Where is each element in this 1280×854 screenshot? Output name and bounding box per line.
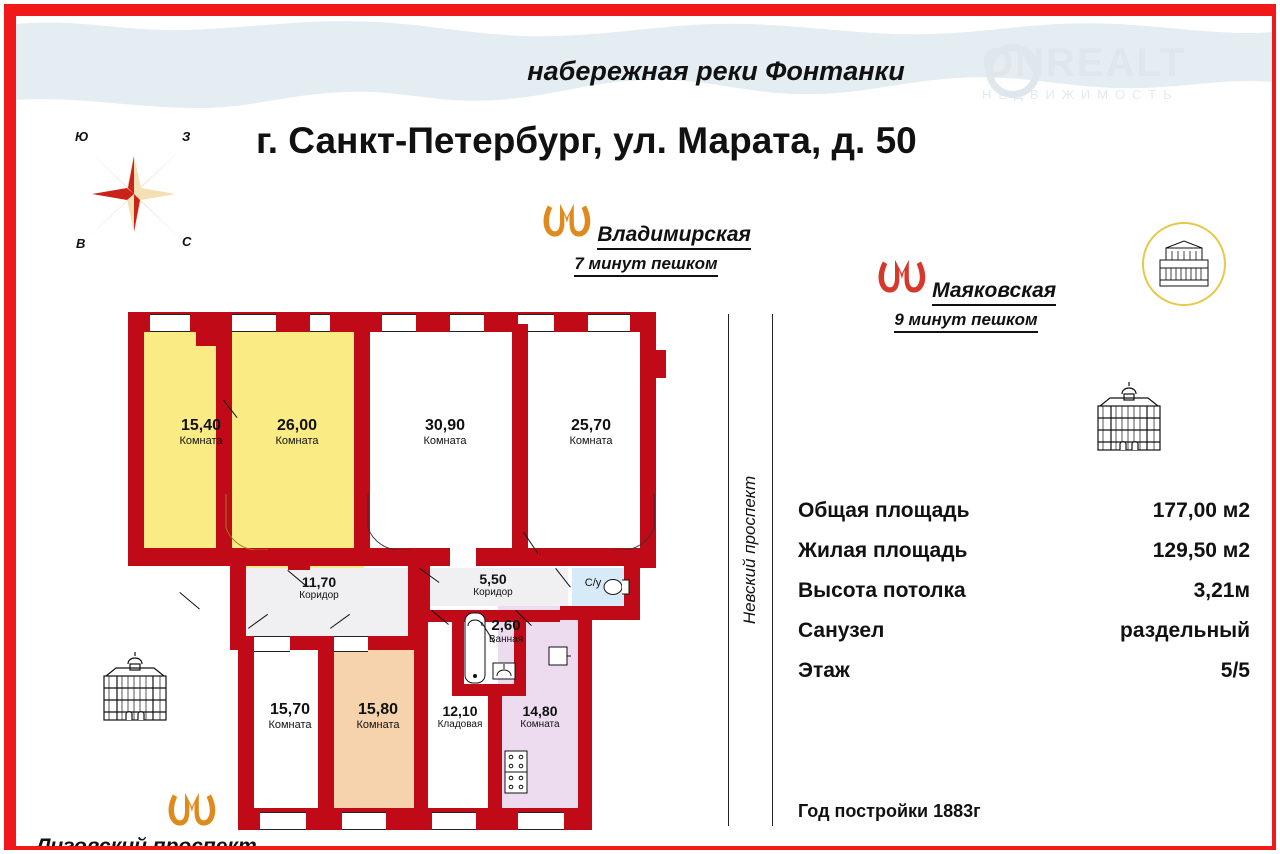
metro-vladimirskaya: Владимирская 7 минут пешком: [486, 202, 806, 277]
window-bottom: [432, 812, 476, 830]
compass-label-s: С: [182, 234, 191, 249]
room-area: 30,90: [402, 418, 488, 435]
room-label-5-50: 5,50 Коридор: [450, 572, 536, 598]
watermark-text: ONREALT: [982, 40, 1262, 86]
metro-walk-time: 9 минут пешком: [894, 310, 1037, 333]
room-label-15-80: 15,80 Комната: [336, 702, 420, 731]
info-key: Высота потолка: [798, 579, 966, 603]
metro-name: Маяковская: [932, 279, 1056, 306]
metro-walk-time: 7 минут пешком: [574, 254, 717, 277]
metro-mayakovskaya: Маяковская 9 минут пешком: [806, 258, 1126, 333]
info-row-bathroom: Санузел раздельный: [798, 619, 1250, 659]
wall-left-exterior: [128, 312, 144, 566]
door-corridor-2: [328, 636, 368, 652]
metro-logo-icon: [541, 202, 593, 240]
page-canvas: ONREALT НЕДВИЖИМОСТЬ набережная реки Фон…: [16, 16, 1272, 846]
river-label: набережная реки Фонтанки: [436, 56, 996, 87]
info-key: Санузел: [798, 619, 884, 643]
red-page-border: ONREALT НЕДВИЖИМОСТЬ набережная реки Фон…: [0, 0, 1280, 854]
door-swing-icon: [224, 494, 270, 550]
compass-label-z: З: [182, 129, 190, 144]
window-bottom: [260, 812, 306, 830]
room-label-12-10: 12,10 Кладовая: [420, 704, 500, 730]
compass-label-v: В: [76, 236, 85, 251]
street-name-label: Невский проспект: [740, 430, 760, 670]
room-label-wc: С/у: [576, 578, 610, 590]
wall-notch-26-00: [330, 312, 358, 332]
wall-lower-left-exterior: [238, 636, 254, 830]
window-bottom: [342, 812, 386, 830]
room-name: Комната: [402, 436, 488, 448]
window-bottom: [518, 812, 564, 830]
info-value: раздельный: [1120, 619, 1250, 643]
window-top: [588, 314, 630, 332]
room-name: Комната: [548, 436, 634, 448]
room-name: Комната: [254, 436, 340, 448]
street-nevsky-prospekt: Невский проспект: [728, 314, 774, 826]
wall-mid-horizontal-right: [476, 548, 656, 566]
room-area: 15,80: [336, 702, 420, 719]
property-info-table: Общая площадь 177,00 м2 Жилая площадь 12…: [798, 499, 1250, 699]
room-label-11-70: 11,70 Коридор: [276, 575, 362, 601]
room-name: Комната: [500, 720, 580, 731]
wall-wc-bottom: [560, 606, 640, 620]
room-fill-15-70: [252, 648, 328, 830]
info-row-floor: Этаж 5/5: [798, 659, 1250, 699]
fixture-box-icon: [548, 646, 572, 666]
watermark-subtext: НЕДВИЖИМОСТЬ: [982, 86, 1262, 104]
info-row-total-area: Общая площадь 177,00 м2: [798, 499, 1250, 539]
room-name: Коридор: [450, 588, 536, 599]
wall-14-80-right: [578, 606, 592, 830]
wall-bath-bottom: [452, 684, 526, 696]
watermark: ONREALT НЕДВИЖИМОСТЬ: [982, 40, 1262, 122]
door-lead-line: [179, 592, 200, 609]
metro-logo-icon: [876, 258, 928, 296]
page-title-address: г. Санкт-Петербург, ул. Марата, д. 50: [256, 120, 1176, 162]
room-area: 11,70: [276, 575, 362, 590]
window-top: [230, 314, 276, 332]
info-row-living-area: Жилая площадь 129,50 м2: [798, 539, 1250, 579]
room-label-30-90: 30,90 Комната: [402, 418, 488, 447]
wall-26-00-drop: [288, 548, 310, 570]
door-swing-icon: [610, 494, 656, 550]
wall-between-15-70-and-15-80: [318, 636, 334, 830]
info-key: Жилая площадь: [798, 539, 967, 563]
palace-building-icon: [1092, 376, 1166, 454]
sink-icon: [492, 662, 516, 680]
info-row-ceiling-height: Высота потолка 3,21м: [798, 579, 1250, 619]
window-top: [382, 314, 416, 332]
room-area: 15,70: [248, 702, 332, 719]
room-area: 14,80: [500, 704, 580, 719]
room-label-25-70: 25,70 Комната: [548, 418, 634, 447]
metro-name: Владимирская: [597, 223, 751, 250]
room-name: Ванная: [472, 635, 540, 646]
stove-icon: [504, 750, 528, 794]
room-label-15-40: 15,40 Комната: [158, 418, 244, 447]
info-value: 177,00 м2: [1153, 499, 1250, 523]
street-edge-line: [728, 314, 729, 826]
metro-name: Лиговский проспект: [36, 835, 257, 846]
room-label-2-60: 2,60 Ванная: [472, 618, 540, 645]
room-area: 2,60: [472, 618, 540, 634]
info-value: 5/5: [1221, 659, 1250, 683]
info-value: 129,50 м2: [1153, 539, 1250, 563]
door-corridor-1: [250, 636, 290, 652]
wall-mid-horizontal-center: [310, 548, 450, 566]
room-fill-15-80: [332, 648, 424, 830]
compass-label-yu: Ю: [75, 129, 89, 144]
room-name: Кладовая: [420, 720, 500, 731]
window-top: [150, 314, 190, 332]
room-name: Комната: [336, 720, 420, 732]
wall-notch-15-40: [196, 312, 232, 346]
wall-mid-horizontal-left: [128, 548, 288, 566]
room-label-15-70: 15,70 Комната: [248, 702, 332, 731]
floor-plan: 15,40 Комната 26,00 Комната 30,90 Комнат…: [120, 310, 684, 826]
street-edge-line: [772, 314, 773, 826]
compass-rose: Ю З В С: [64, 124, 204, 264]
door-swing-icon: [366, 494, 412, 550]
room-label-14-80: 14,80 Комната: [500, 704, 580, 730]
wall-corridor-left: [230, 566, 246, 644]
room-name: С/у: [585, 577, 602, 589]
wall-between-30-90-and-25-70: [512, 324, 528, 550]
info-value: 3,21м: [1194, 579, 1250, 603]
info-key: Этаж: [798, 659, 850, 683]
year-built-label: Год постройки 1883г: [798, 801, 981, 822]
window-top: [450, 314, 484, 332]
room-name: Комната: [158, 436, 244, 448]
theatre-building-icon: [1156, 238, 1212, 290]
room-area: 5,50: [450, 572, 536, 587]
room-name: Коридор: [276, 591, 362, 602]
room-area: 15,40: [158, 418, 244, 435]
room-area: 25,70: [548, 418, 634, 435]
room-area: 12,10: [420, 704, 500, 719]
info-key: Общая площадь: [798, 499, 970, 523]
room-name: Комната: [248, 720, 332, 732]
room-area: 26,00: [254, 418, 340, 435]
room-label-26-00: 26,00 Комната: [254, 418, 340, 447]
